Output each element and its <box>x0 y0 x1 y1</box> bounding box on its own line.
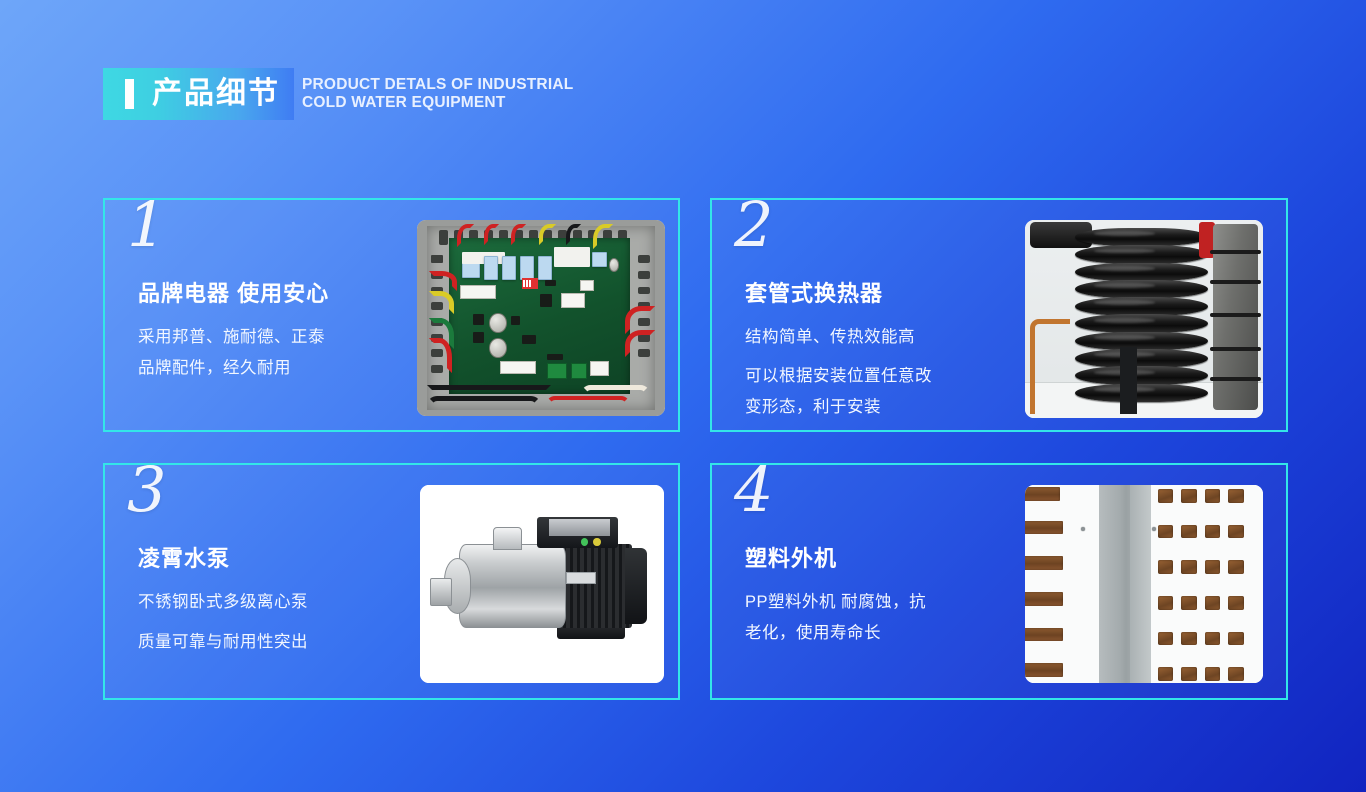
pcb-image <box>417 220 665 416</box>
feature-card-3[interactable]: 3 凌霄水泵 不锈钢卧式多级离心泵 质量可靠与耐用性突出 <box>103 463 680 700</box>
card-description-line: PP塑料外机 耐腐蚀，抗 <box>745 587 995 618</box>
plastic-casing-photo[interactable] <box>1025 485 1263 683</box>
card-description-line: 采用邦普、施耐德、正泰 <box>138 322 388 353</box>
pump-motor <box>559 544 632 627</box>
section-header: 产品细节 PRODUCT DETALS OF INDUSTRIAL COLD W… <box>103 68 622 120</box>
card-text-block: 品牌电器 使用安心 采用邦普、施耐德、正泰 品牌配件，经久耐用 <box>138 276 388 384</box>
card-title: 凌霄水泵 <box>138 541 388 573</box>
pump-motor-fan-cover <box>625 548 647 623</box>
pump-nameplate <box>566 572 595 584</box>
page-subtitle: PRODUCT DETALS OF INDUSTRIAL COLD WATER … <box>302 76 622 112</box>
card-description: 结构简单、传热效能高 可以根据安装位置任意改 变形态，利于安装 <box>745 322 995 423</box>
casing-image <box>1025 485 1263 683</box>
accent-bar-icon <box>125 79 134 109</box>
card-title: 品牌电器 使用安心 <box>138 276 388 308</box>
casing-right-panel <box>1151 485 1263 683</box>
card-description: 采用邦普、施耐德、正泰 品牌配件，经久耐用 <box>138 322 388 384</box>
pump-inlet-port <box>430 578 452 606</box>
card-description-line: 可以根据安装位置任意改 <box>745 361 995 392</box>
card-description-line: 变形态，利于安装 <box>745 392 995 423</box>
coil-stack <box>1075 228 1208 410</box>
pcb-board <box>449 238 630 395</box>
feature-card-2[interactable]: 2 套管式换热器 结构简单、传热效能高 可以根据安装位置任意改 变形态，利于安装 <box>710 198 1288 432</box>
card-number: 1 <box>127 194 166 256</box>
card-description-line: 质量可靠与耐用性突出 <box>138 627 388 658</box>
heat-exchanger-image <box>1025 220 1263 418</box>
card-title: 套管式换热器 <box>745 276 995 308</box>
card-number: 3 <box>127 459 166 521</box>
insulated-bundle <box>1213 224 1258 410</box>
pump-image <box>420 485 664 683</box>
feature-card-1[interactable]: 1 品牌电器 使用安心 采用邦普、施耐德、正泰 品牌配件，经久耐用 <box>103 198 680 432</box>
water-pump-photo[interactable] <box>420 485 664 683</box>
card-description-line: 不锈钢卧式多级离心泵 <box>138 587 388 618</box>
card-description-line: 老化，使用寿命长 <box>745 618 995 649</box>
control-board-photo[interactable] <box>417 220 665 416</box>
card-text-block: 套管式换热器 结构简单、传热效能高 可以根据安装位置任意改 变形态，利于安装 <box>745 276 995 423</box>
pump-discharge-cap <box>493 527 522 551</box>
card-description-line: 品牌配件，经久耐用 <box>138 353 388 384</box>
page-title: 产品细节 <box>152 79 280 109</box>
card-title: 塑料外机 <box>745 541 995 573</box>
card-description-line: 结构简单、传热效能高 <box>745 322 995 353</box>
pump-terminal-label <box>549 519 610 537</box>
feature-card-4[interactable]: 4 塑料外机 PP塑料外机 耐腐蚀，抗 老化，使用寿命长 <box>710 463 1288 700</box>
copper-pipe <box>1030 319 1070 414</box>
header-badge: 产品细节 <box>103 68 294 120</box>
casing-center-edge <box>1130 485 1151 683</box>
card-description: PP塑料外机 耐腐蚀，抗 老化，使用寿命长 <box>745 587 995 649</box>
pump-stainless-body <box>459 544 566 627</box>
mounting-strap <box>1120 347 1137 414</box>
card-description: 不锈钢卧式多级离心泵 质量可靠与耐用性突出 <box>138 587 388 658</box>
coil-heat-exchanger-photo[interactable] <box>1025 220 1263 418</box>
card-number: 4 <box>734 459 773 521</box>
casing-left-panel <box>1025 485 1099 683</box>
card-number: 2 <box>734 194 773 256</box>
card-text-block: 凌霄水泵 不锈钢卧式多级离心泵 质量可靠与耐用性突出 <box>138 541 388 658</box>
card-text-block: 塑料外机 PP塑料外机 耐腐蚀，抗 老化，使用寿命长 <box>745 541 995 649</box>
